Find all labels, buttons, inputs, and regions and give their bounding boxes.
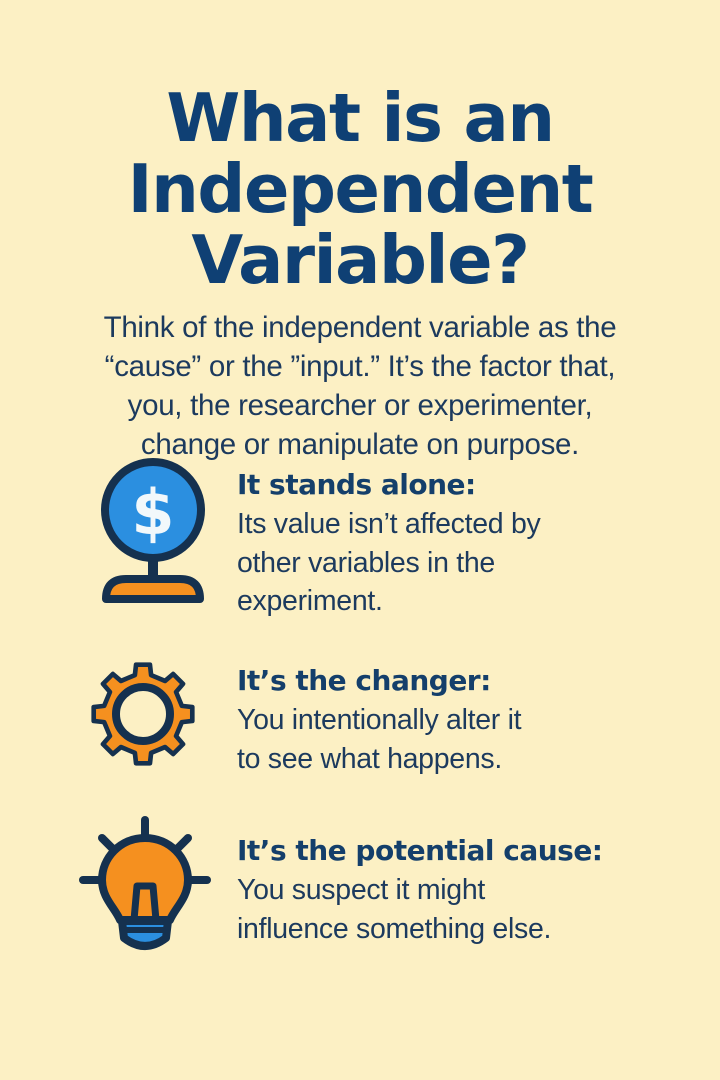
- intro-line-2: “cause” or the ”input.” It’s the factor …: [40, 347, 680, 386]
- page-title: What is an Independent Variable?: [0, 83, 720, 296]
- infographic-poster: What is an Independent Variable? Think o…: [0, 0, 720, 1080]
- point-text-block: It stands alone: Its value isn’t affecte…: [237, 464, 667, 621]
- point-body-line-1: Its value isn’t affected by: [237, 505, 667, 544]
- point-body: You suspect it might influence something…: [237, 871, 667, 948]
- point-text-block: It’s the potential cause: You suspect it…: [237, 830, 667, 948]
- point-body: You intentionally alter it to see what h…: [237, 701, 667, 778]
- lightbulb-icon: [78, 818, 228, 978]
- intro-line-1: Think of the independent variable as the: [40, 308, 680, 347]
- point-body-line-2: influence something else.: [237, 910, 667, 949]
- point-body-line-1: You suspect it might: [237, 871, 667, 910]
- point-text-block: It’s the changer: You intentionally alte…: [237, 660, 667, 778]
- point-heading: It’s the potential cause:: [237, 830, 667, 871]
- svg-text:$: $: [131, 476, 174, 549]
- dollar-sign-on-stand-icon: $: [78, 455, 228, 615]
- point-body-line-2: other variables in the: [237, 544, 667, 583]
- title-line-3: Variable?: [0, 225, 720, 296]
- point-body-line-1: You intentionally alter it: [237, 701, 667, 740]
- intro-paragraph: Think of the independent variable as the…: [40, 308, 680, 464]
- title-line-2: Independent: [0, 154, 720, 225]
- point-heading: It’s the changer:: [237, 660, 667, 701]
- point-heading: It stands alone:: [237, 464, 667, 505]
- title-line-1: What is an: [0, 83, 720, 154]
- point-body: Its value isn’t affected by other variab…: [237, 505, 667, 621]
- gear-icon: [78, 648, 228, 808]
- point-body-line-2: to see what happens.: [237, 740, 667, 779]
- intro-line-3: you, the researcher or experimenter,: [40, 386, 680, 425]
- point-body-line-3: experiment.: [237, 582, 667, 621]
